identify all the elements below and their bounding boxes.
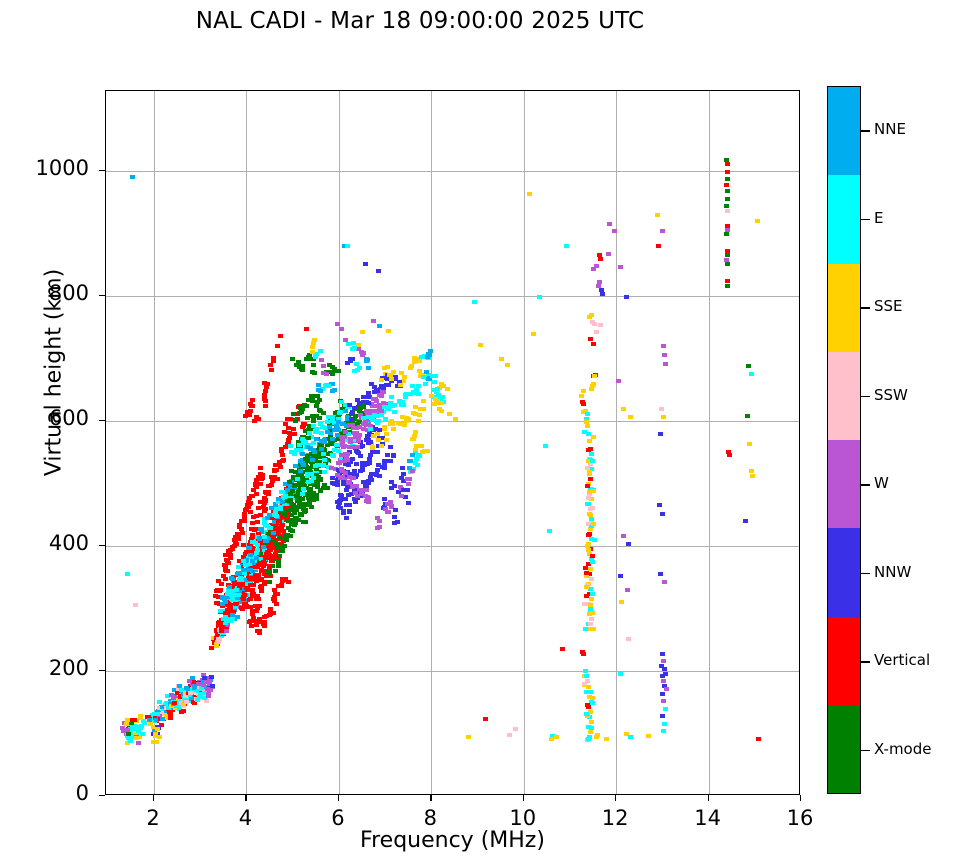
scatter-point — [317, 416, 322, 420]
scatter-point — [271, 356, 276, 360]
scatter-point — [280, 500, 285, 504]
scatter-point — [366, 481, 371, 485]
scatter-point — [335, 483, 340, 487]
scatter-point — [376, 438, 381, 442]
scatter-point — [724, 232, 729, 236]
x-tick-label: 16 — [770, 806, 830, 830]
scatter-point — [223, 564, 228, 568]
scatter-point — [368, 427, 373, 431]
scatter-point — [584, 585, 589, 589]
scatter-point — [582, 430, 587, 434]
scatter-point — [275, 344, 280, 348]
scatter-point — [588, 477, 593, 481]
scatter-point — [750, 474, 755, 478]
scatter-point — [280, 453, 285, 457]
scatter-point — [656, 244, 661, 248]
scatter-point — [590, 696, 595, 700]
scatter-point — [260, 473, 265, 477]
scatter-point — [255, 629, 260, 633]
scatter-point — [382, 425, 387, 429]
scatter-point — [263, 389, 268, 393]
scatter-point — [305, 474, 310, 478]
scatter-point — [322, 440, 327, 444]
scatter-point — [300, 452, 305, 456]
colorbar-tick — [861, 484, 870, 485]
scatter-point — [361, 416, 366, 420]
scatter-point — [618, 672, 623, 676]
scatter-point — [590, 701, 595, 705]
scatter-point — [355, 398, 360, 402]
scatter-point — [242, 519, 247, 523]
scatter-point — [155, 727, 160, 731]
scatter-point — [308, 447, 313, 451]
scatter-point — [746, 364, 751, 368]
scatter-point — [230, 613, 235, 617]
scatter-point — [148, 722, 153, 726]
scatter-point — [128, 739, 133, 743]
scatter-point — [216, 579, 221, 583]
scatter-point — [250, 521, 255, 525]
scatter-point — [348, 437, 353, 441]
scatter-point — [279, 490, 284, 494]
scatter-point — [433, 374, 438, 378]
x-tick-label: 10 — [493, 806, 553, 830]
scatter-point — [625, 588, 630, 592]
scatter-point — [628, 735, 633, 739]
page-title: NAL CADI - Mar 18 09:00:00 2025 UTC — [0, 8, 840, 34]
scatter-point — [395, 520, 400, 524]
scatter-point — [531, 332, 536, 336]
x-tick — [245, 795, 246, 801]
scatter-point — [371, 319, 376, 323]
scatter-point — [340, 476, 345, 480]
scatter-point — [271, 531, 276, 535]
colorbar-tick — [861, 573, 870, 574]
x-tick-label: 2 — [123, 806, 183, 830]
scatter-point — [537, 295, 542, 299]
scatter-point — [277, 554, 282, 558]
scatter-point — [604, 737, 609, 741]
scatter-point — [314, 497, 319, 501]
scatter-point — [370, 450, 375, 454]
scatter-point — [289, 469, 294, 473]
colorbar-segment-sse — [828, 264, 860, 352]
scatter-point — [293, 418, 298, 422]
scatter-point — [662, 722, 667, 726]
scatter-point — [262, 624, 267, 628]
y-tick — [99, 670, 105, 671]
scatter-point — [354, 462, 359, 466]
colorbar-segment-ssw — [828, 352, 860, 440]
scatter-point — [584, 674, 589, 678]
scatter-point — [258, 466, 263, 470]
scatter-point — [341, 445, 346, 449]
scatter-point — [318, 349, 323, 353]
scatter-point — [591, 522, 596, 526]
scatter-point — [663, 707, 668, 711]
scatter-point — [331, 453, 336, 457]
scatter-point — [364, 357, 369, 361]
scatter-point — [513, 727, 518, 731]
scatter-point — [311, 476, 316, 480]
scatter-point — [293, 516, 298, 520]
scatter-point — [254, 492, 259, 496]
x-tick — [153, 795, 154, 801]
scatter-point — [388, 445, 393, 449]
scatter-point — [376, 269, 381, 273]
scatter-point — [583, 669, 588, 673]
scatter-point — [423, 382, 428, 386]
scatter-point — [410, 384, 415, 388]
scatter-point — [363, 262, 368, 266]
scatter-point — [259, 586, 264, 590]
scatter-point — [366, 500, 371, 504]
scatter-point — [658, 432, 663, 436]
scatter-point — [388, 459, 393, 463]
scatter-point — [307, 431, 312, 435]
ionogram-figure: NAL CADI - Mar 18 09:00:00 2025 UTC 2468… — [0, 0, 972, 865]
scatter-point — [589, 720, 594, 724]
scatter-point — [228, 556, 233, 560]
scatter-point — [419, 444, 424, 448]
scatter-point — [240, 531, 245, 535]
scatter-point — [249, 404, 254, 408]
scatter-point — [399, 476, 404, 480]
scatter-point — [386, 329, 391, 333]
scatter-point — [621, 407, 626, 411]
scatter-point — [426, 352, 431, 356]
scatter-point — [345, 452, 350, 456]
scatter-point — [416, 392, 421, 396]
scatter-point — [125, 728, 130, 732]
y-tick-label: 400 — [9, 531, 89, 555]
scatter-point — [218, 588, 223, 592]
scatter-point — [248, 583, 253, 587]
scatter-point — [356, 451, 361, 455]
scatter-point — [594, 264, 599, 268]
scatter-point — [391, 427, 396, 431]
scatter-point — [256, 506, 261, 510]
scatter-point — [322, 470, 327, 474]
scatter-point — [453, 417, 458, 421]
scatter-point — [417, 413, 422, 417]
scatter-point — [413, 405, 418, 409]
scatter-point — [242, 593, 247, 597]
scatter-point — [263, 539, 268, 543]
scatter-point — [590, 384, 595, 388]
scatter-point — [351, 476, 356, 480]
colorbar-label-ssw: SSW — [874, 386, 908, 404]
scatter-point — [130, 718, 135, 722]
scatter-point — [360, 468, 365, 472]
scatter-point — [447, 412, 452, 416]
scatter-point — [618, 265, 623, 269]
scatter-point — [248, 553, 253, 557]
colorbar-label-sse: SSE — [874, 297, 903, 315]
scatter-point — [584, 712, 589, 716]
scatter-point — [126, 732, 131, 736]
scatter-point — [590, 560, 595, 564]
scatter-point — [267, 513, 272, 517]
scatter-point — [281, 458, 286, 462]
scatter-point — [234, 542, 239, 546]
scatter-point — [663, 362, 668, 366]
scatter-point — [352, 406, 357, 410]
scatter-point — [218, 609, 223, 613]
x-tick — [338, 795, 339, 801]
scatter-point — [241, 568, 246, 572]
scatter-point — [250, 398, 255, 402]
scatter-point — [278, 505, 283, 509]
scatter-point — [382, 497, 387, 501]
scatter-point — [383, 507, 388, 511]
scatter-point — [661, 729, 666, 733]
scatter-point — [405, 477, 410, 481]
scatter-point — [303, 509, 308, 513]
scatter-point — [660, 714, 665, 718]
scatter-point — [168, 716, 173, 720]
scatter-point — [387, 373, 392, 377]
scatter-point — [646, 734, 651, 738]
scatter-point — [411, 411, 416, 415]
scatter-point — [616, 379, 621, 383]
scatter-point — [423, 449, 428, 453]
scatter-point — [402, 423, 407, 427]
scatter-point — [478, 343, 483, 347]
scatter-point — [243, 414, 248, 418]
scatter-point — [300, 492, 305, 496]
scatter-point — [249, 494, 254, 498]
colorbar-label-x-mode: X-mode — [874, 740, 931, 758]
scatter-point — [588, 567, 593, 571]
scatter-point — [589, 597, 594, 601]
scatter-point — [662, 353, 667, 357]
scatter-point — [254, 597, 259, 601]
scatter-point — [354, 362, 359, 366]
scatter-point — [341, 511, 346, 515]
scatter-point — [225, 569, 230, 573]
scatter-point — [585, 424, 590, 428]
scatter-point — [624, 295, 629, 299]
scatter-point — [382, 366, 387, 370]
scatter-point — [590, 554, 595, 558]
scatter-point — [747, 442, 752, 446]
scatter-point — [579, 394, 584, 398]
scatter-point — [389, 480, 394, 484]
scatter-point — [219, 627, 224, 631]
scatter-point — [236, 537, 241, 541]
scatter-point — [618, 574, 623, 578]
scatter-point — [284, 538, 289, 542]
scatter-point — [592, 374, 597, 378]
scatter-point — [311, 441, 316, 445]
scatter-point — [596, 284, 601, 288]
scatter-point — [595, 733, 600, 737]
scatter-point — [133, 603, 138, 607]
x-tick — [708, 795, 709, 801]
scatter-point — [332, 448, 337, 452]
scatter-point — [626, 542, 631, 546]
scatter-point — [396, 421, 401, 425]
scatter-point — [364, 488, 369, 492]
scatter-point — [589, 617, 594, 621]
scatter-point — [377, 324, 382, 328]
scatter-point — [399, 494, 404, 498]
scatter-point — [336, 428, 341, 432]
colorbar-segment-nnw — [828, 528, 860, 616]
scatter-point — [268, 612, 273, 616]
scatter-point — [130, 175, 135, 179]
scatter-point — [337, 411, 342, 415]
scatter-point — [547, 529, 552, 533]
scatter-layer — [106, 91, 799, 794]
scatter-point — [339, 327, 344, 331]
scatter-point — [749, 469, 754, 473]
scatter-point — [286, 534, 291, 538]
scatter-point — [379, 378, 384, 382]
scatter-point — [743, 519, 748, 523]
scatter-point — [391, 370, 396, 374]
scatter-point — [628, 415, 633, 419]
scatter-point — [290, 357, 295, 361]
scatter-point — [599, 288, 604, 292]
scatter-point — [355, 445, 360, 449]
scatter-point — [330, 476, 335, 480]
scatter-point — [403, 393, 408, 397]
scatter-point — [355, 494, 360, 498]
scatter-point — [591, 435, 596, 439]
scatter-point — [384, 438, 389, 442]
scatter-point — [587, 439, 592, 443]
scatter-point — [140, 732, 145, 736]
scatter-point — [400, 466, 405, 470]
scatter-point — [257, 604, 262, 608]
scatter-point — [338, 506, 343, 510]
scatter-point — [258, 482, 263, 486]
scatter-point — [589, 452, 594, 456]
y-tick — [99, 795, 105, 796]
scatter-point — [756, 737, 761, 741]
scatter-point — [330, 437, 335, 441]
scatter-point — [289, 450, 294, 454]
scatter-point — [352, 346, 357, 350]
scatter-point — [301, 487, 306, 491]
scatter-point — [254, 514, 259, 518]
scatter-point — [725, 170, 730, 174]
scatter-point — [316, 388, 321, 392]
scatter-point — [288, 498, 293, 502]
scatter-point — [375, 450, 380, 454]
scatter-point — [725, 162, 730, 166]
scatter-point — [584, 594, 589, 598]
scatter-point — [585, 412, 590, 416]
scatter-point — [310, 414, 315, 418]
colorbar-tick — [861, 307, 870, 308]
scatter-point — [239, 527, 244, 531]
scatter-point — [379, 444, 384, 448]
scatter-point — [583, 627, 588, 631]
scatter-point — [598, 323, 603, 327]
scatter-point — [505, 363, 510, 367]
colorbar-segment-nne — [828, 87, 860, 175]
scatter-point — [424, 370, 429, 374]
scatter-point — [591, 627, 596, 631]
scatter-point — [607, 222, 612, 226]
scatter-point — [267, 526, 272, 530]
scatter-point — [589, 726, 594, 730]
scatter-point — [305, 416, 310, 420]
scatter-point — [483, 717, 488, 721]
scatter-point — [343, 430, 348, 434]
scatter-point — [261, 545, 266, 549]
scatter-point — [339, 435, 344, 439]
scatter-point — [157, 735, 162, 739]
scatter-point — [376, 419, 381, 423]
scatter-point — [582, 602, 587, 606]
scatter-point — [250, 533, 255, 537]
scatter-point — [325, 430, 330, 434]
y-tick — [99, 545, 105, 546]
scatter-point — [227, 585, 232, 589]
scatter-point — [365, 434, 370, 438]
scatter-point — [586, 737, 591, 741]
scatter-point — [591, 489, 596, 493]
y-tick-label: 200 — [9, 656, 89, 680]
scatter-point — [292, 432, 297, 436]
scatter-point — [310, 350, 315, 354]
scatter-point — [366, 366, 371, 370]
scatter-point — [725, 209, 730, 213]
scatter-point — [663, 672, 668, 676]
scatter-point — [392, 515, 397, 519]
scatter-point — [179, 710, 184, 714]
scatter-point — [279, 448, 284, 452]
scatter-point — [306, 436, 311, 440]
y-tick — [99, 295, 105, 296]
scatter-point — [217, 620, 222, 624]
scatter-point — [307, 502, 312, 506]
scatter-point — [293, 464, 298, 468]
scatter-point — [235, 615, 240, 619]
scatter-point — [472, 300, 477, 304]
scatter-point — [258, 527, 263, 531]
scatter-point — [590, 506, 595, 510]
scatter-point — [318, 478, 323, 482]
scatter-point — [375, 432, 380, 436]
scatter-point — [343, 497, 348, 501]
scatter-point — [245, 505, 250, 509]
scatter-point — [340, 469, 345, 473]
scatter-point — [354, 484, 359, 488]
y-tick — [99, 420, 105, 421]
scatter-point — [589, 577, 594, 581]
scatter-point — [725, 284, 730, 288]
scatter-point — [302, 422, 307, 426]
scatter-point — [285, 417, 290, 421]
scatter-point — [389, 486, 394, 490]
scatter-point — [267, 571, 272, 575]
scatter-point — [273, 569, 278, 573]
scatter-point — [255, 594, 260, 598]
scatter-point — [250, 559, 255, 563]
scatter-point — [243, 563, 248, 567]
scatter-point — [435, 387, 440, 391]
scatter-point — [621, 534, 626, 538]
y-tick-label: 0 — [9, 781, 89, 805]
scatter-point — [210, 684, 215, 688]
scatter-point — [263, 399, 268, 403]
scatter-point — [344, 503, 349, 507]
